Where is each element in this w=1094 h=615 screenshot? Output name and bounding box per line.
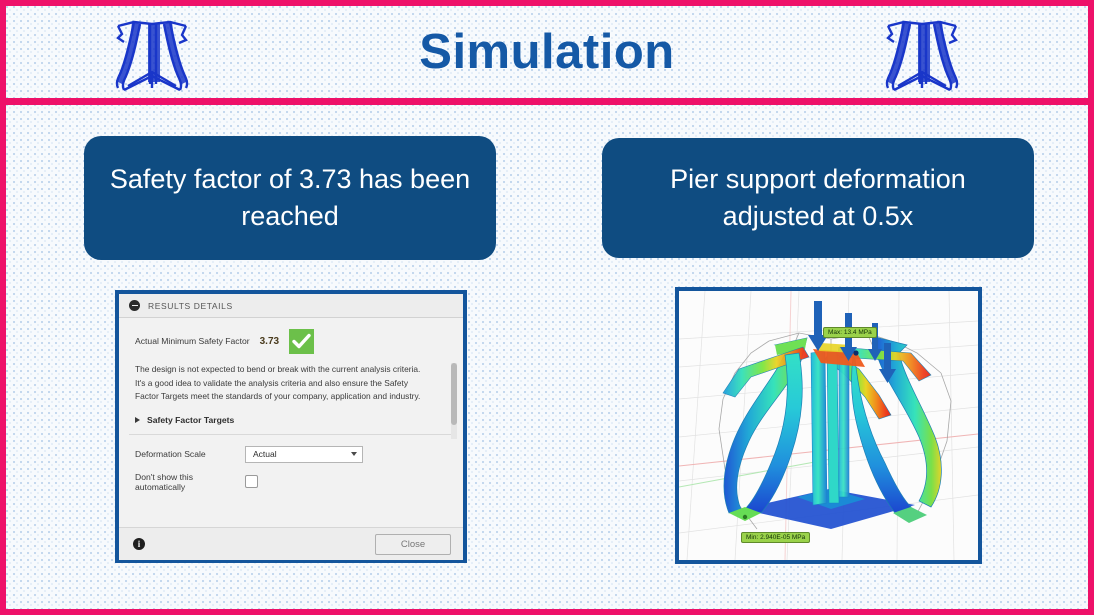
- callout-safety-factor: Safety factor of 3.73 has been reached: [84, 136, 496, 260]
- dont-show-checkbox[interactable]: [245, 475, 258, 488]
- description-wrapper: The design is not expected to bend or br…: [135, 363, 449, 404]
- close-button[interactable]: Close: [375, 534, 451, 555]
- deformation-scale-row: Deformation Scale Actual: [135, 446, 463, 463]
- callout-safety-factor-text: Safety factor of 3.73 has been reached: [100, 161, 480, 236]
- safety-factor-row: Actual Minimum Safety Factor 3.73: [119, 328, 463, 354]
- dialog-footer: i Close: [119, 527, 463, 560]
- callout-deformation-scale: Pier support deformation adjusted at 0.5…: [602, 138, 1034, 258]
- safety-factor-label: Actual Minimum Safety Factor: [135, 336, 250, 346]
- deformation-scale-select[interactable]: Actual: [245, 446, 363, 463]
- simulation-result-viewport[interactable]: Max: 13.4 MPa Min: 2.940E-05 MPa: [675, 287, 982, 564]
- deformation-scale-value: Actual: [253, 449, 277, 459]
- safety-factor-targets-label: Safety Factor Targets: [147, 415, 234, 425]
- triangle-right-icon[interactable]: [135, 417, 140, 423]
- safety-factor-value: 3.73: [260, 336, 279, 347]
- green-check-icon: [289, 329, 314, 354]
- safety-factor-targets-row[interactable]: Safety Factor Targets: [135, 415, 463, 425]
- dont-show-row: Don't show this automatically: [135, 472, 463, 492]
- info-icon[interactable]: i: [133, 538, 145, 550]
- deformation-scale-label: Deformation Scale: [135, 449, 245, 459]
- description-scrollbar[interactable]: [451, 363, 457, 439]
- dont-show-label: Don't show this automatically: [135, 472, 245, 492]
- results-details-header[interactable]: RESULTS DETAILS: [119, 294, 463, 318]
- minus-circle-icon[interactable]: [129, 300, 140, 311]
- callout-deformation-scale-text: Pier support deformation adjusted at 0.5…: [618, 161, 1018, 236]
- slide-header: Simulation: [6, 6, 1088, 105]
- pier-support-logo-left: [104, 12, 200, 94]
- min-stress-annotation: Min: 2.940E-05 MPa: [741, 532, 810, 543]
- slide-canvas: Simulation: [0, 0, 1094, 615]
- pier-support-logo-right: [874, 12, 970, 94]
- caret-down-icon: [351, 452, 357, 456]
- dialog-divider: [129, 434, 453, 435]
- results-details-dialog: RESULTS DETAILS Actual Minimum Safety Fa…: [115, 290, 467, 563]
- results-details-body: Actual Minimum Safety Factor 3.73 The de…: [119, 318, 463, 560]
- results-details-title: RESULTS DETAILS: [148, 301, 233, 311]
- max-stress-annotation: Max: 13.4 MPa: [823, 327, 877, 338]
- results-description: The design is not expected to bend or br…: [135, 363, 423, 404]
- page-title: Simulation: [419, 28, 674, 77]
